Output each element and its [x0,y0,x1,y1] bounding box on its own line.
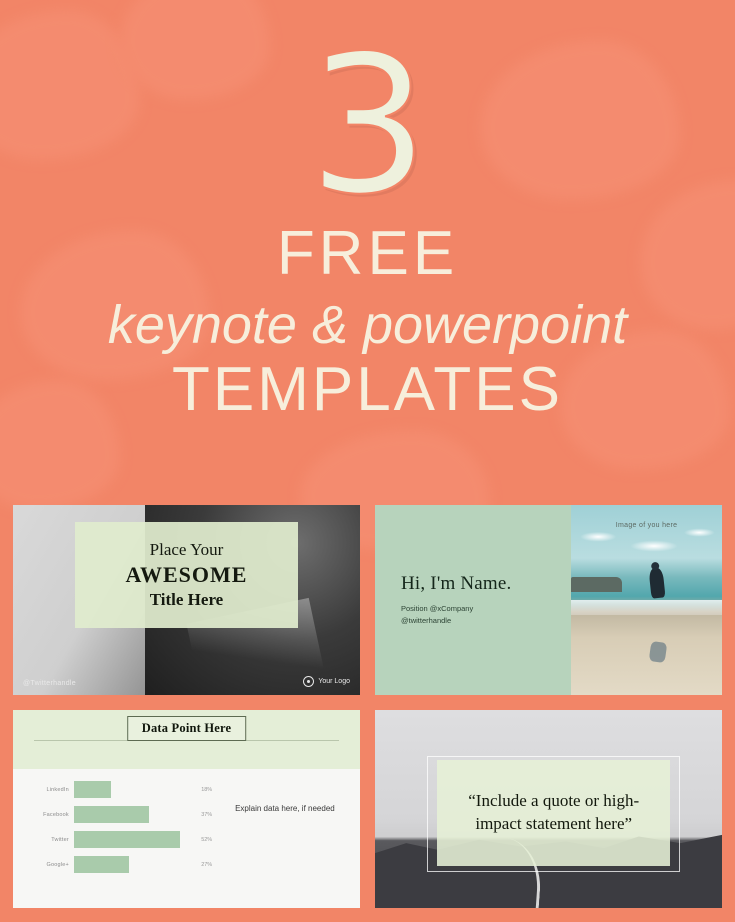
jumping-person [648,567,665,598]
bar-track [74,856,196,873]
bar-category-label: LinkedIn [27,787,69,793]
data-slide-title: Data Point Here [127,716,247,741]
bar-category-label: Google+ [27,862,69,868]
bar-track [74,781,196,798]
hero-free-label: FREE [0,223,735,285]
slide-thumbnail-quote[interactable]: “Include a quote or high-impact statemen… [375,710,722,908]
person-reflection [648,641,667,663]
twitter-handle-label: @Twitterhandle [23,680,76,687]
slide-thumbnail-title[interactable]: Place Your AWESOME Title Here @Twitterha… [13,505,360,695]
bar-chart-row: LinkedIn18% [27,781,221,798]
bar-track [74,806,196,823]
intro-meta: Position @xCompany @twitterhandle [401,603,571,626]
intro-heading: Hi, I'm Name. [401,573,571,595]
bar-value-label: 37% [201,812,221,818]
hero-templates-label: TEMPLATES [0,357,735,422]
bar-category-label: Facebook [27,812,69,818]
quote-text: “Include a quote or high-impact statemen… [437,760,670,867]
slide-thumbnail-intro[interactable]: Hi, I'm Name. Position @xCompany @twitte… [375,505,722,695]
cliff-shape [571,577,622,592]
title-line-1: Place Your [150,540,224,560]
logo-placeholder: Your Logo [303,676,350,687]
slide-thumbnail-grid: Place Your AWESOME Title Here @Twitterha… [13,505,722,908]
beach-photo: Image of you here [571,505,722,695]
chart-annotation: Explain data here, if needed [235,803,339,815]
bar-fill [74,781,111,798]
bar-value-label: 52% [201,837,221,843]
bar-chart-row: Facebook37% [27,806,221,823]
surf-line [571,600,722,615]
bar-fill [74,856,129,873]
bar-track [74,831,196,848]
hero-section: 3 FREE keynote & powerpoint TEMPLATES [0,0,735,498]
bar-chart: LinkedIn18%Facebook37%Twitter52%Google+2… [27,781,221,873]
intro-text-column: Hi, I'm Name. Position @xCompany @twitte… [375,505,571,695]
bar-chart-row: Twitter52% [27,831,221,848]
intro-position: Position @xCompany [401,603,571,615]
bar-category-label: Twitter [27,837,69,843]
title-line-2: AWESOME [126,562,248,588]
image-placeholder-label: Image of you here [571,522,722,529]
poster-root: 3 FREE keynote & powerpoint TEMPLATES Pl… [0,0,735,922]
bar-value-label: 27% [201,862,221,868]
hero-count-number: 3 [0,0,735,217]
bar-chart-row: Google+27% [27,856,221,873]
slide-thumbnail-data[interactable]: Data Point Here LinkedIn18%Facebook37%Tw… [13,710,360,908]
logo-mark-icon [303,676,314,687]
intro-twitter: @twitterhandle [401,615,571,627]
bar-fill [74,806,149,823]
title-line-3: Title Here [150,590,224,610]
hero-subtitle-italic: keynote & powerpoint [0,297,735,354]
bar-fill [74,831,180,848]
title-text-panel: Place Your AWESOME Title Here [75,522,297,628]
bar-value-label: 18% [201,787,221,793]
logo-label: Your Logo [318,678,350,685]
